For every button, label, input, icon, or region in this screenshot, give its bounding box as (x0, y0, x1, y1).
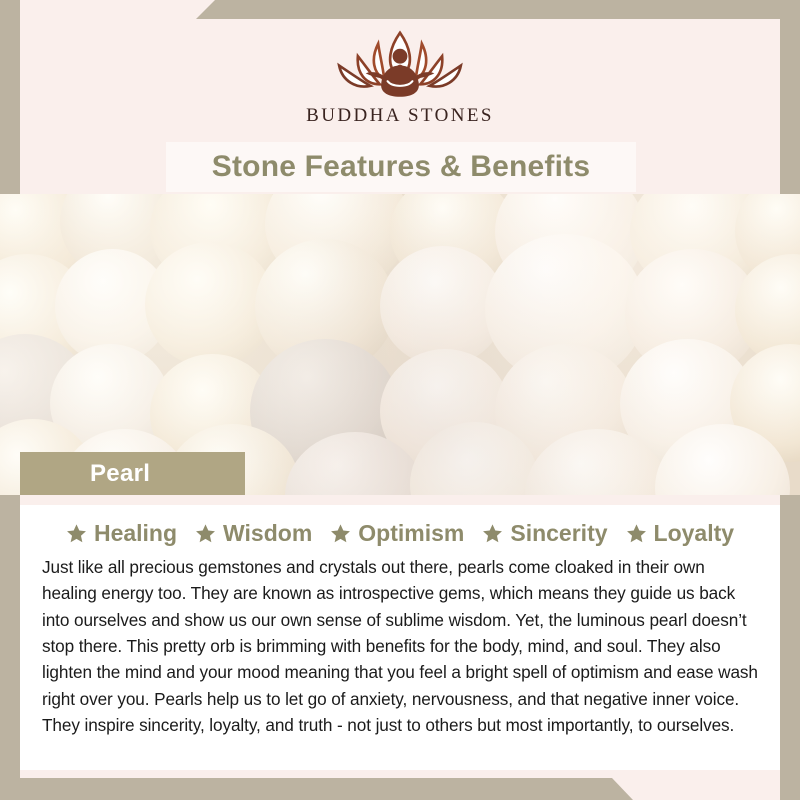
benefit-item-healing: Healing (57, 520, 186, 547)
brand-name: BUDDHA STONES (306, 105, 494, 127)
benefits-list: Healing Wisdom Optimism Sincerity Loyalt… (20, 505, 780, 552)
photo-lighting-overlay (0, 194, 800, 495)
benefit-item-optimism: Optimism (321, 520, 473, 547)
benefit-item-loyalty: Loyalty (617, 520, 744, 547)
star-icon (482, 523, 503, 544)
benefit-item-sincerity: Sincerity (473, 520, 616, 547)
content-card: Healing Wisdom Optimism Sincerity Loyalt… (20, 505, 780, 770)
stone-name: Pearl (90, 460, 150, 488)
benefit-item-wisdom: Wisdom (186, 520, 321, 547)
photo-card-gap (20, 495, 780, 505)
benefit-label: Healing (94, 520, 177, 547)
benefit-label: Wisdom (223, 520, 312, 547)
frame-decoration-bottom (0, 778, 800, 800)
star-icon (66, 523, 87, 544)
benefit-label: Optimism (358, 520, 464, 547)
stone-name-banner: Pearl (20, 452, 245, 495)
brand-logo: BUDDHA STONES (0, 19, 800, 139)
lotus-meditation-icon (320, 25, 480, 103)
frame-decoration-top (0, 0, 800, 19)
infographic-page: BUDDHA STONES Stone Features & Benefits (0, 0, 800, 800)
star-icon (626, 523, 647, 544)
page-title: Stone Features & Benefits (212, 150, 590, 184)
stone-photo (0, 194, 800, 495)
benefit-label: Sincerity (510, 520, 607, 547)
stone-description: Just like all precious gemstones and cry… (42, 554, 758, 738)
star-icon (330, 523, 351, 544)
star-icon (195, 523, 216, 544)
title-panel: Stone Features & Benefits (166, 142, 636, 192)
benefit-label: Loyalty (654, 520, 735, 547)
